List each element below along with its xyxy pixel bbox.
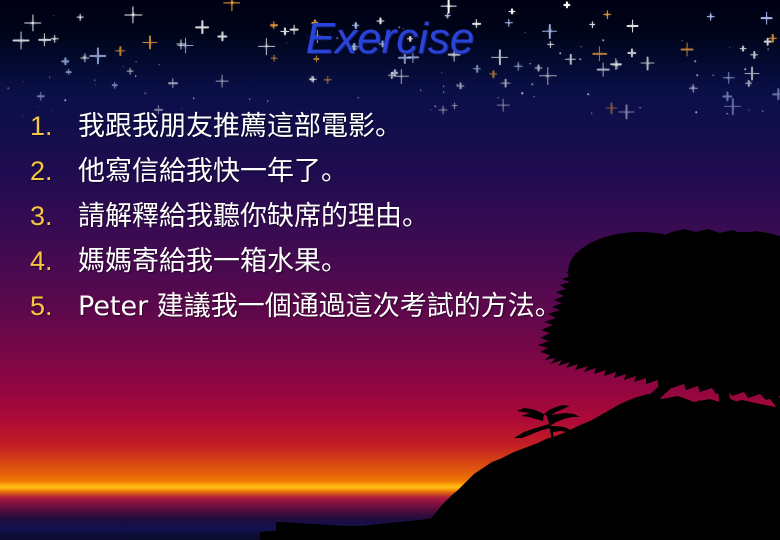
list-item-number: 4.: [30, 246, 78, 277]
list-item: 3. 請解釋給我聽你缺席的理由。: [30, 194, 750, 239]
sea-streak: [420, 522, 600, 526]
list-item-number: 2.: [30, 156, 78, 187]
presentation-slide: Exercise 1. 我跟我朋友推薦這部電影。 2. 他寫信給我快一年了。 3…: [0, 0, 780, 540]
sea-water: [0, 512, 780, 540]
list-item-number: 5.: [30, 291, 78, 322]
list-item: 2. 他寫信給我快一年了。: [30, 149, 750, 194]
list-item-number: 1.: [30, 111, 78, 142]
list-item-text: 媽媽寄給我一箱水果。: [78, 239, 348, 278]
list-item: 4. 媽媽寄給我一箱水果。: [30, 239, 750, 284]
list-item-text: 我跟我朋友推薦這部電影。: [78, 104, 402, 143]
list-item-text: 請解釋給我聽你缺席的理由。: [78, 194, 429, 233]
list-item: 1. 我跟我朋友推薦這部電影。: [30, 104, 750, 149]
numbered-sentence-list: 1. 我跟我朋友推薦這部電影。 2. 他寫信給我快一年了。 3. 請解釋給我聽你…: [30, 104, 750, 329]
list-item: 5. Peter 建議我一個通過這次考試的方法。: [30, 284, 750, 329]
list-item-number: 3.: [30, 201, 78, 232]
list-item-text: 他寫信給我快一年了。: [78, 149, 348, 188]
sea-streak: [560, 530, 780, 535]
list-item-text: Peter 建議我一個通過這次考試的方法。: [78, 284, 562, 323]
sea-streak: [690, 518, 780, 522]
slide-title: Exercise: [0, 14, 780, 64]
